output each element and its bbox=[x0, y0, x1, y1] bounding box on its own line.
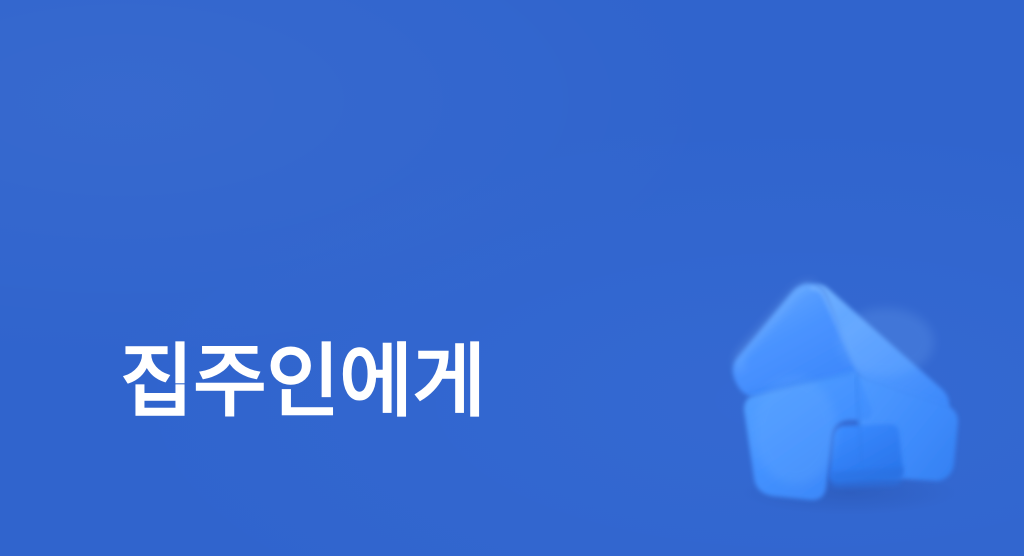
house-roof-glow bbox=[838, 308, 934, 376]
poster-canvas: 집주인에게 거주지 서류 요청하기 bbox=[0, 0, 1024, 556]
headline-line-1: 집주인에게 bbox=[120, 330, 640, 434]
house-illustration bbox=[700, 250, 990, 520]
house-front-glow bbox=[753, 376, 837, 484]
house-3d-icon bbox=[700, 250, 990, 520]
page-title: 집주인에게 거주지 서류 요청하기 bbox=[120, 122, 640, 556]
